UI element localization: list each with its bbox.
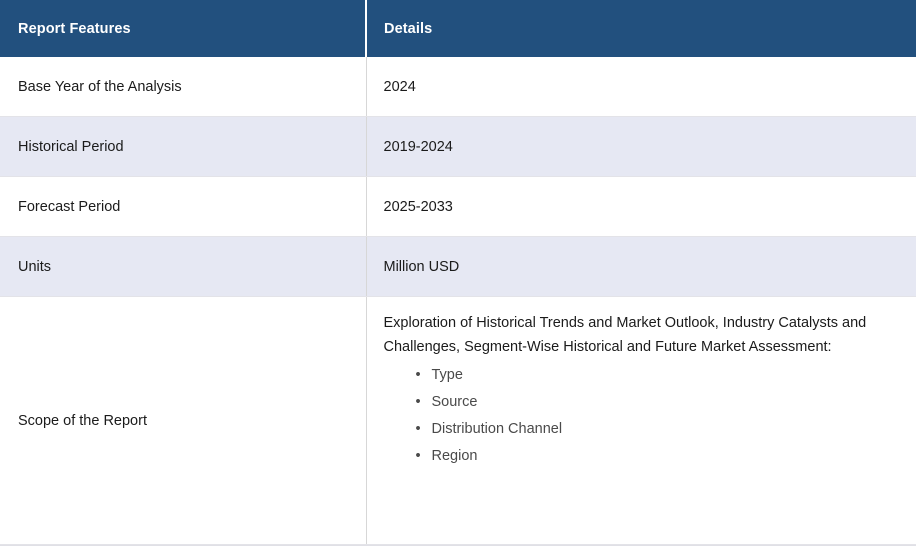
row-value-historical-period: 2019-2024 (366, 117, 916, 177)
row-value-units: Million USD (366, 237, 916, 297)
table-row: Forecast Period 2025-2033 (0, 177, 916, 237)
scope-segment-list: Type Source Distribution Channel Region (384, 362, 902, 470)
list-item: Distribution Channel (416, 416, 902, 443)
row-label-scope-of-the-report: Scope of the Report (0, 297, 366, 545)
row-label-units: Units (0, 237, 366, 297)
table-row: Units Million USD (0, 237, 916, 297)
table-header: Report Features Details (0, 0, 916, 57)
row-label-historical-period: Historical Period (0, 117, 366, 177)
list-item: Region (416, 443, 902, 470)
table-row: Historical Period 2019-2024 (0, 117, 916, 177)
report-table-container: Report Features Details Base Year of the… (0, 0, 916, 546)
row-label-base-year: Base Year of the Analysis (0, 57, 366, 117)
row-value-forecast-period: 2025-2033 (366, 177, 916, 237)
row-value-scope-of-the-report: Exploration of Historical Trends and Mar… (366, 297, 916, 545)
row-value-base-year: 2024 (366, 57, 916, 117)
scope-intro-text: Exploration of Historical Trends and Mar… (384, 312, 876, 359)
column-header-report-features: Report Features (0, 0, 366, 57)
row-label-forecast-period: Forecast Period (0, 177, 366, 237)
table-body: Base Year of the Analysis 2024 Historica… (0, 57, 916, 545)
column-header-details: Details (366, 0, 916, 57)
list-item: Source (416, 389, 902, 416)
report-features-table: Report Features Details Base Year of the… (0, 0, 916, 545)
table-header-row: Report Features Details (0, 0, 916, 57)
list-item: Type (416, 362, 902, 389)
table-row-scope: Scope of the Report Exploration of Histo… (0, 297, 916, 545)
table-row: Base Year of the Analysis 2024 (0, 57, 916, 117)
